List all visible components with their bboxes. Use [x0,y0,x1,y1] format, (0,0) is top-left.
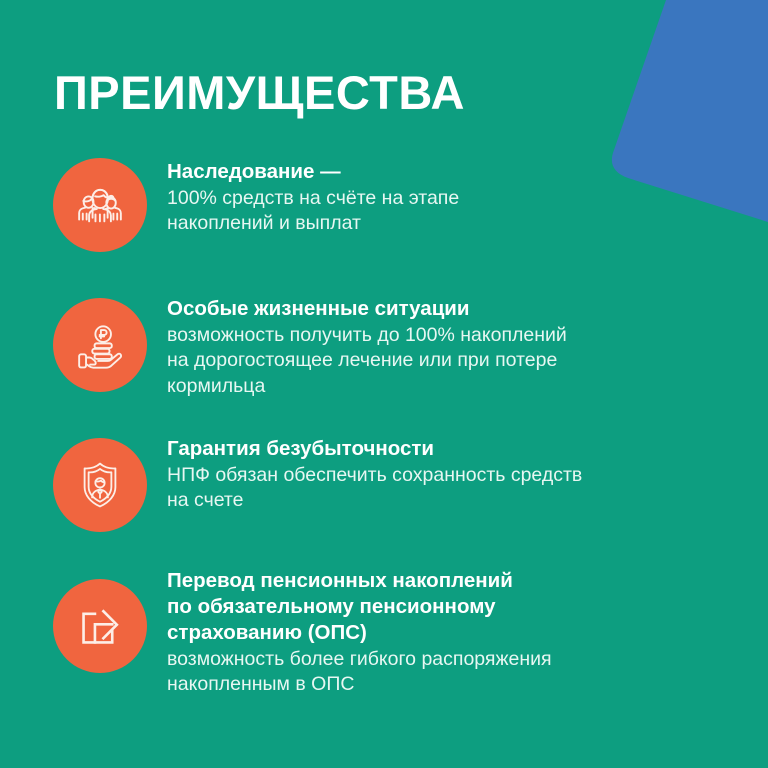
icon-badge [53,579,147,673]
share-export-arrow-icon [73,599,127,653]
benefit-description: НПФ обязан обеспечить сохранность средст… [167,463,707,514]
icon-badge [53,158,147,252]
poster-canvas: ПРЕИМУЩЕСТВА [0,0,768,768]
benefit-title: Особые жизненные ситуации [167,296,707,322]
icon-badge [53,438,147,532]
family-group-icon [71,176,129,234]
benefit-text-block: Гарантия безубыточности НПФ обязан обесп… [167,436,707,514]
benefit-description: 100% средств на счёте на этапе накоплени… [167,186,707,237]
benefit-description: возможность более гибкого распоряжения н… [167,647,707,698]
benefit-description: возможность получить до 100% накоплений … [167,323,707,399]
page-title: ПРЕИМУЩЕСТВА [54,68,465,117]
benefit-text-block: Особые жизненные ситуации возможность по… [167,296,707,399]
shield-with-person-icon [72,457,128,513]
benefit-text-block: Наследование — 100% средств на счёте на … [167,159,707,237]
hand-with-ruble-coins-icon [71,316,129,374]
benefit-title: Наследование — [167,159,707,185]
benefit-title: Перевод пенсионных накоплений по обязате… [167,568,707,646]
benefit-text-block: Перевод пенсионных накоплений по обязате… [167,568,707,698]
benefit-title: Гарантия безубыточности [167,436,707,462]
icon-badge [53,298,147,392]
